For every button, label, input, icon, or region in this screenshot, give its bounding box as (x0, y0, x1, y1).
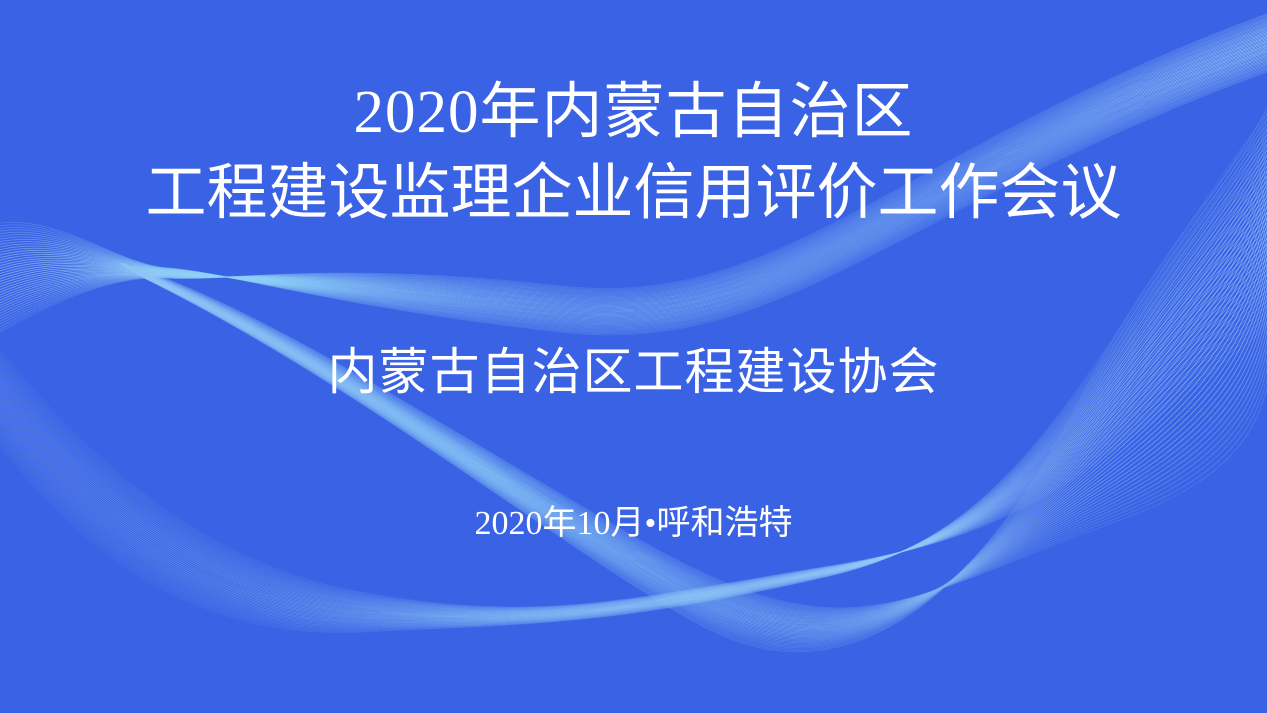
organization-name: 内蒙古自治区工程建设协会 (328, 347, 940, 397)
event-date-location: 2020年10月•呼和浩特 (475, 507, 793, 541)
page-title-line-1: 2020年内蒙古自治区 (353, 82, 913, 143)
slide-content: 2020年内蒙古自治区 工程建设监理企业信用评价工作会议 内蒙古自治区工程建设协… (0, 0, 1267, 713)
presentation-title-slide: 2020年内蒙古自治区 工程建设监理企业信用评价工作会议 内蒙古自治区工程建设协… (0, 0, 1267, 713)
page-title-line-2: 工程建设监理企业信用评价工作会议 (145, 163, 1121, 224)
